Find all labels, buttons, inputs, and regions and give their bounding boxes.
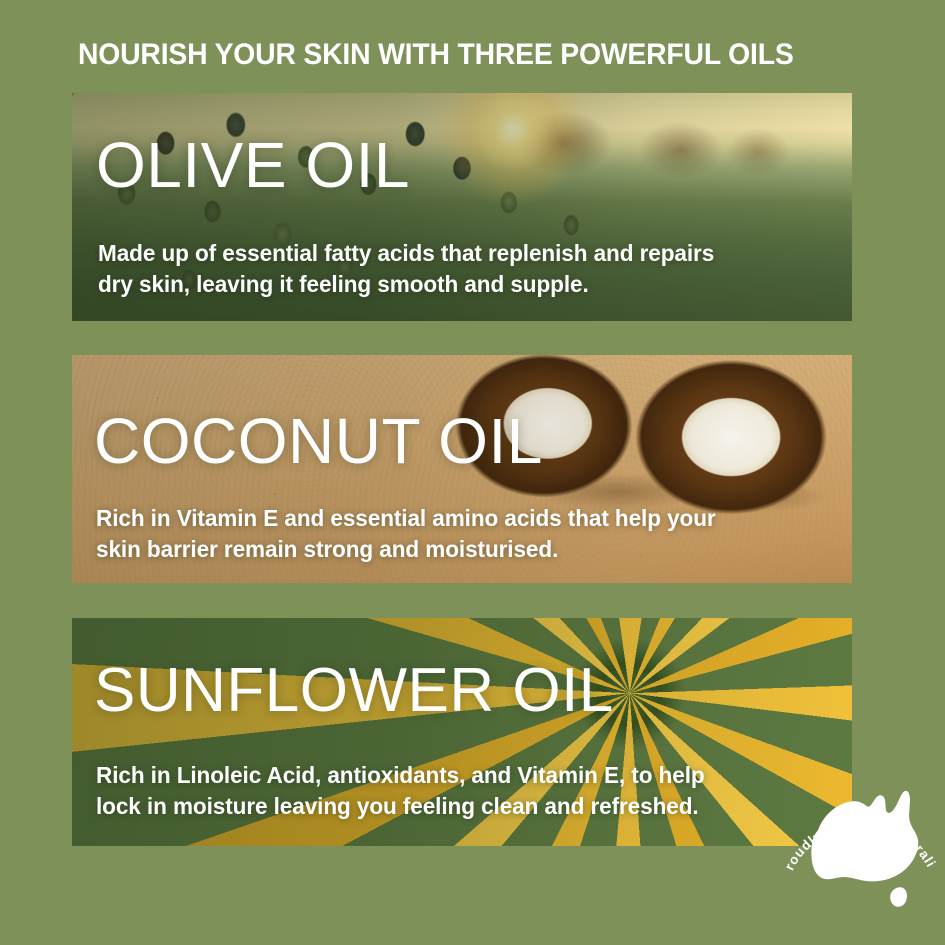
sunflower-card-copy: SUNFLOWER OIL Rich in Linoleic Acid, ant… <box>72 618 852 846</box>
coconut-oil-description: Rich in Vitamin E and essential amino ac… <box>96 503 716 565</box>
olive-oil-description: Made up of essential fatty acids that re… <box>98 238 714 300</box>
coconut-card-copy: COCONUT OIL Rich in Vitamin E and essent… <box>72 355 852 583</box>
olive-card-copy: OLIVE OIL Made up of essential fatty aci… <box>72 93 852 321</box>
poster-canvas: NOURISH YOUR SKIN WITH THREE POWERFUL OI… <box>0 0 945 945</box>
sunflower-oil-title: SUNFLOWER OIL <box>94 660 614 722</box>
olive-oil-title: OLIVE OIL <box>96 133 410 197</box>
australia-map-icon <box>811 791 918 907</box>
page-title: NOURISH YOUR SKIN WITH THREE POWERFUL OI… <box>78 38 834 72</box>
oil-card-olive: OLIVE OIL Made up of essential fatty aci… <box>72 93 852 321</box>
coconut-oil-title: COCONUT OIL <box>94 409 543 473</box>
oil-card-sunflower: SUNFLOWER OIL Rich in Linoleic Acid, ant… <box>72 618 852 846</box>
made-in-australia-badge: Proudly Made In Australia <box>778 760 945 928</box>
oil-card-coconut: COCONUT OIL Rich in Vitamin E and essent… <box>72 355 852 583</box>
sunflower-oil-description: Rich in Linoleic Acid, antioxidants, and… <box>96 760 705 822</box>
